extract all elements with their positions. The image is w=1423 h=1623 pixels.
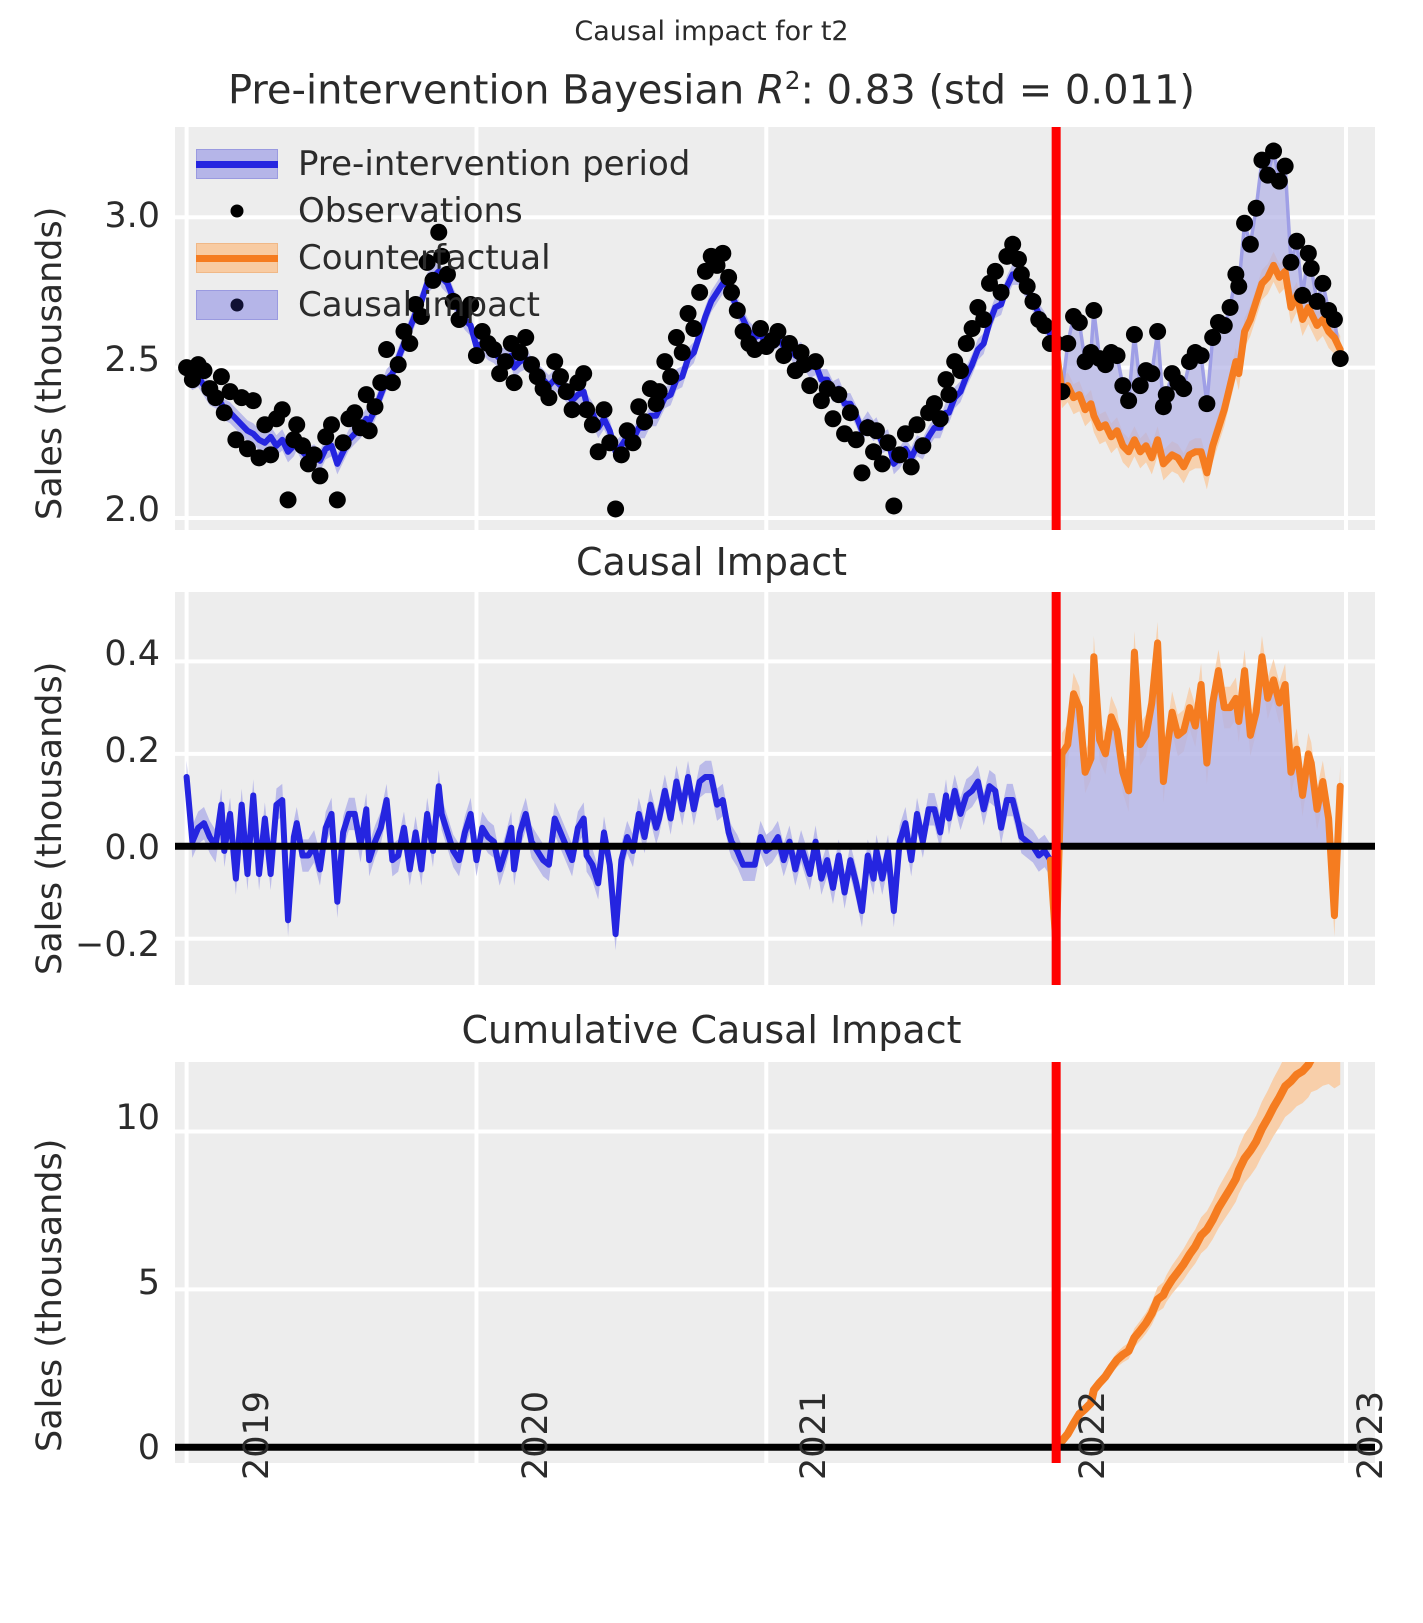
causal-impact-figure: Causal impact for t2 Pre-intervention Ba… (0, 0, 1423, 1623)
legend-key-line-band-icon (196, 146, 278, 182)
panel3-title: Cumulative Causal Impact (0, 1008, 1423, 1052)
main-title-r-symbol: R (757, 67, 785, 113)
panel1-ytick-2: 2.0 (50, 490, 160, 530)
legend-item-causal-impact[interactable]: Causal impact (196, 281, 690, 328)
xtick-2020: 2020 (516, 1391, 556, 1480)
legend-label-causal-impact: Causal impact (298, 285, 540, 325)
panel1-ytick-0: 3.0 (50, 196, 160, 236)
panel3-ytick-0: 10 (40, 1098, 160, 1138)
panel-cumulative-causal-impact (175, 1062, 1375, 1463)
main-title-superscript: 2 (785, 66, 801, 95)
legend-key-dot-icon (196, 193, 278, 229)
legend-item-counterfactual[interactable]: Counterfactual (196, 234, 690, 281)
main-title-prefix: Pre-intervention Bayesian (228, 67, 757, 113)
legend-label-pre-intervention: Pre-intervention period (298, 144, 690, 184)
figure-suptitle: Causal impact for t2 (0, 16, 1423, 47)
panel-causal-impact (175, 592, 1375, 985)
panel2-ytick-1: 0.2 (30, 731, 160, 771)
figure-main-title: Pre-intervention Bayesian R2: 0.83 (std … (0, 66, 1423, 113)
xtick-2019: 2019 (237, 1391, 277, 1480)
panel2-ytick-2: 0.0 (30, 828, 160, 868)
legend-label-observations: Observations (298, 191, 523, 231)
panel3-ytick-1: 5 (40, 1263, 160, 1303)
panel3-ytick-2: 0 (40, 1428, 160, 1468)
legend: Pre-intervention period Observations Cou… (196, 140, 690, 328)
legend-item-pre-intervention[interactable]: Pre-intervention period (196, 140, 690, 187)
xtick-2022: 2022 (1073, 1391, 1113, 1480)
xtick-2021: 2021 (794, 1391, 834, 1480)
main-title-suffix: : 0.83 (std = 0.011) (800, 67, 1195, 113)
panel1-ytick-1: 2.5 (50, 340, 160, 380)
legend-label-counterfactual: Counterfactual (298, 238, 551, 278)
panel2-title: Causal Impact (0, 540, 1423, 584)
legend-key-impact-band-icon (196, 287, 278, 323)
legend-item-observations[interactable]: Observations (196, 187, 690, 234)
xtick-2023: 2023 (1351, 1391, 1391, 1480)
legend-key-orange-band-icon (196, 240, 278, 276)
panel2-ytick-0: 0.4 (30, 634, 160, 674)
panel2-ytick-3: −0.2 (30, 925, 160, 965)
